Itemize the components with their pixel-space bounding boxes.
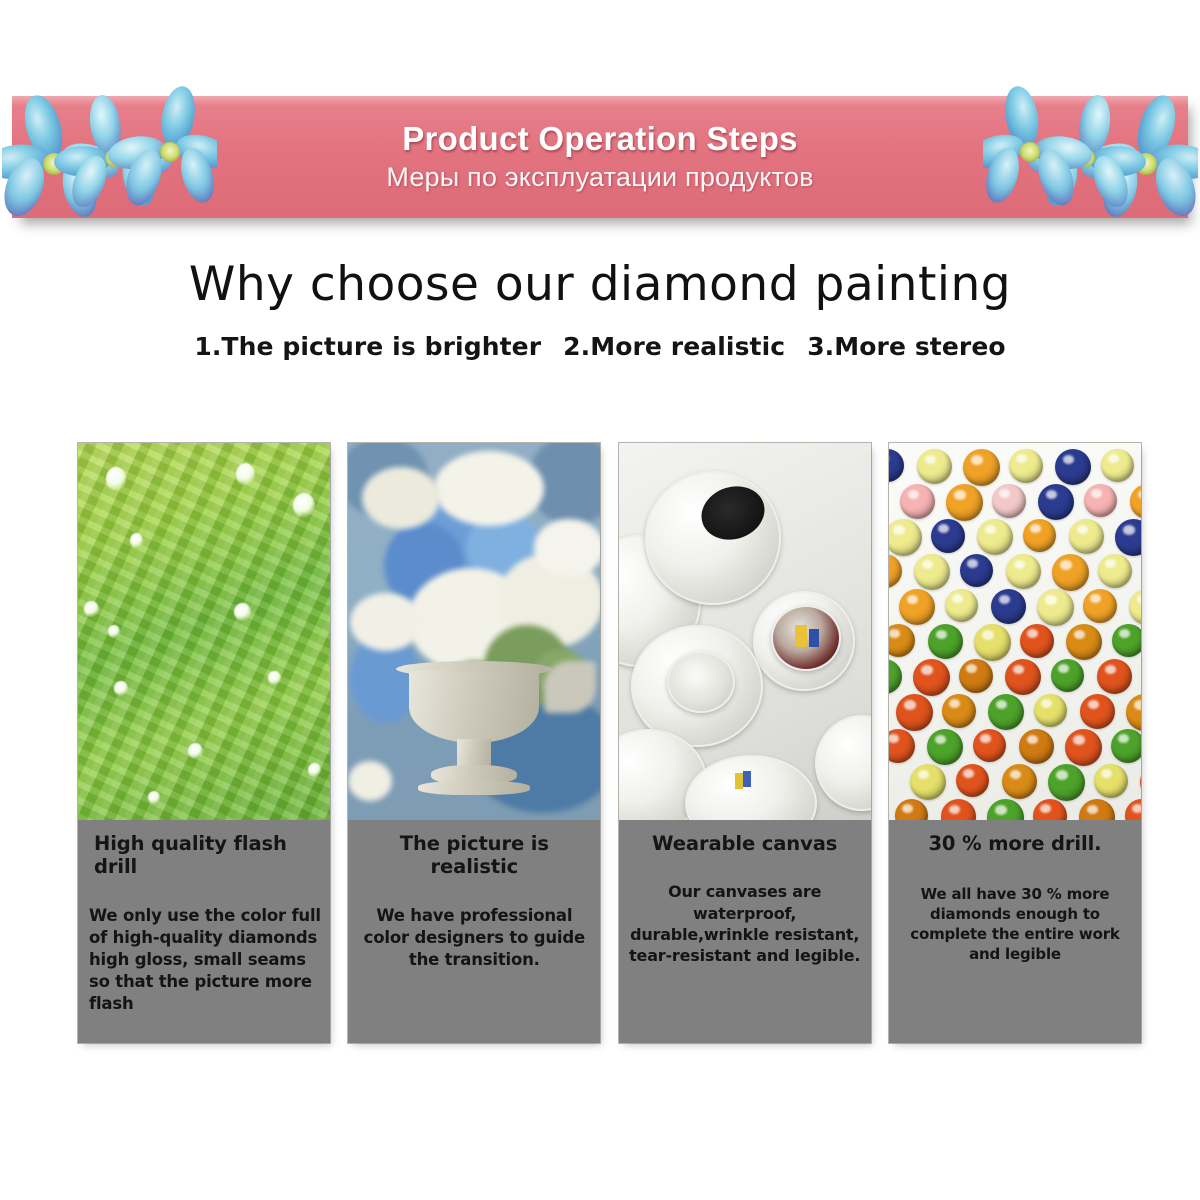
rhinestone — [910, 764, 946, 800]
page-title: Why choose our diamond painting — [0, 258, 1200, 312]
rhinestone — [946, 484, 983, 521]
banner-title: Product Operation Steps — [402, 120, 798, 158]
rhinestone — [1112, 624, 1141, 657]
rhinestone — [1126, 694, 1141, 731]
rolled-canvas-photo — [619, 443, 871, 820]
colored-rhinestones-photo — [889, 443, 1141, 820]
card-caption: Wearable canvas Our canvases are waterpr… — [619, 820, 871, 1043]
rhinestone — [1037, 589, 1074, 626]
rhinestone — [959, 659, 993, 693]
card-caption: High quality flash drill We only use the… — [78, 820, 330, 1043]
green-diamond-drills-photo — [78, 443, 330, 820]
rhinestone — [987, 799, 1024, 820]
rhinestone — [1094, 764, 1128, 798]
benefit-step-2: 2.More realistic — [563, 332, 785, 361]
feature-card-30-percent-more-drill: 30 % more drill. We all have 30 % more d… — [889, 443, 1141, 1043]
rhinestone — [917, 449, 952, 484]
rhinestone — [1023, 519, 1056, 552]
rhinestone — [889, 554, 902, 588]
rhinestone — [889, 519, 922, 556]
rhinestone — [1098, 554, 1132, 588]
rhinestone — [889, 624, 915, 657]
rhinestone — [1083, 589, 1117, 623]
card-title: The picture is realistic — [357, 832, 591, 879]
rhinestone — [1101, 449, 1134, 482]
rhinestone — [1129, 589, 1141, 625]
rhinestone — [960, 554, 993, 587]
card-body: We all have 30 % more diamonds enough to… — [898, 885, 1132, 965]
rhinestone — [1130, 484, 1141, 519]
rhinestone — [1005, 659, 1041, 695]
heading-block: Why choose our diamond painting 1.The pi… — [0, 258, 1200, 361]
rhinestone — [1052, 554, 1089, 591]
card-body: We have professional color designers to … — [357, 905, 591, 971]
rhinestone — [973, 729, 1006, 762]
card-caption: The picture is realistic We have profess… — [348, 820, 600, 1043]
rhinestone — [956, 764, 989, 797]
card-caption: 30 % more drill. We all have 30 % more d… — [889, 820, 1141, 1043]
rhinestone — [1111, 729, 1141, 763]
rhinestone — [928, 624, 963, 659]
benefit-steps-list: 1.The picture is brighter2.More realisti… — [0, 332, 1200, 361]
color-accent — [809, 629, 819, 647]
rhinestone — [1069, 519, 1104, 554]
feature-cards-row: High quality flash drill We only use the… — [78, 443, 1141, 1043]
rhinestone — [1065, 729, 1102, 766]
banner-subtitle-russian: Меры по эксплуатации продуктов — [386, 161, 813, 195]
benefit-step-1: 1.The picture is brighter — [194, 332, 541, 361]
feature-card-high-quality-flash-drill: High quality flash drill We only use the… — [78, 443, 330, 1043]
feature-card-picture-is-realistic: The picture is realistic We have profess… — [348, 443, 600, 1043]
rhinestone — [914, 554, 950, 590]
color-accent — [743, 771, 751, 787]
rhinestone — [1002, 764, 1037, 799]
rhinestone — [896, 694, 933, 731]
card-title: High quality flash drill — [87, 832, 321, 879]
rhinestone — [900, 484, 935, 519]
rhinestone — [913, 659, 950, 696]
rhinestone — [1080, 694, 1115, 729]
banner-section: Product Operation Steps Меры по эксплуат… — [0, 0, 1200, 250]
rhinestone — [889, 729, 915, 763]
feature-card-wearable-canvas: Wearable canvas Our canvases are waterpr… — [619, 443, 871, 1043]
rhinestone — [974, 624, 1011, 661]
rhinestone — [992, 484, 1026, 518]
rhinestone — [895, 799, 928, 820]
rhinestone — [1034, 694, 1067, 727]
rhinestone — [1097, 659, 1132, 694]
rhinestone — [889, 659, 902, 694]
rhinestone — [1009, 449, 1043, 483]
rhinestone — [941, 799, 976, 820]
rhinestone — [977, 519, 1013, 555]
rhinestone — [1066, 624, 1102, 660]
card-body: We only use the color full of high-quali… — [87, 905, 321, 1015]
rhinestone — [1125, 799, 1141, 820]
rhinestone — [927, 729, 963, 765]
color-accent — [735, 773, 743, 789]
rhinestone — [1006, 554, 1041, 589]
rhinestone — [1033, 799, 1067, 820]
rhinestone — [931, 519, 965, 553]
rhinestone — [988, 694, 1024, 730]
benefit-step-3: 3.More stereo — [807, 332, 1005, 361]
rhinestone — [1140, 764, 1141, 800]
rhinestone — [1051, 659, 1084, 692]
rhinestone — [1038, 484, 1074, 520]
rhinestone — [1055, 449, 1091, 485]
floral-vase-painting-photo — [348, 443, 600, 820]
rhinestone — [1115, 519, 1141, 556]
card-title: Wearable canvas — [628, 832, 862, 855]
rhinestone — [991, 589, 1026, 624]
rhinestone — [963, 449, 1000, 486]
rhinestone — [1079, 799, 1115, 820]
rhinestone — [1084, 484, 1117, 517]
color-accent — [795, 625, 807, 647]
rhinestone — [889, 449, 904, 482]
banner-text-group: Product Operation Steps Меры по эксплуат… — [0, 96, 1200, 218]
card-body: Our canvases are waterproof, durable,wri… — [628, 881, 862, 966]
rhinestone — [899, 589, 935, 625]
rhinestone — [1020, 624, 1054, 658]
rhinestone — [942, 694, 976, 728]
rhinestone — [1048, 764, 1085, 801]
rhinestone — [1019, 729, 1054, 764]
card-title: 30 % more drill. — [898, 832, 1132, 855]
rhinestone — [945, 589, 978, 622]
